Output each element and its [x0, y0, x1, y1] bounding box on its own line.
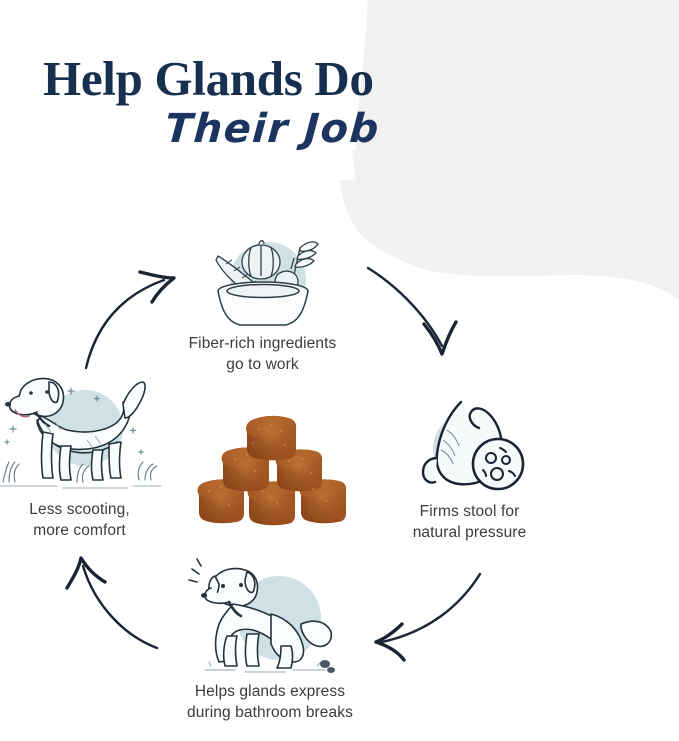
- cycle-step-caption: Fiber-rich ingredients go to work: [160, 334, 365, 375]
- cycle-step-firms-stool: Firms stool for natural pressure: [372, 398, 567, 543]
- curved-arrow-down-right-icon: [366, 262, 478, 366]
- cycle-step-caption: Firms stool for natural pressure: [372, 502, 567, 543]
- infographic-canvas: Help Glands Do Their Job: [0, 0, 679, 741]
- cycle-step-glands-express: Helps glands express during bathroom bre…: [145, 552, 395, 723]
- cycle-step-caption: Less scooting, more comfort: [0, 500, 167, 541]
- cycle-step-less-scooting: Less scooting, more comfort: [0, 366, 167, 541]
- title-line-1: Help Glands Do: [0, 52, 679, 106]
- title-line-2: Their Job: [0, 107, 679, 151]
- stomach-magnified-icon: [405, 398, 535, 502]
- product-label: Stacked soft chew treats: [180, 535, 181, 536]
- dog-bowl-ingredients-icon: [188, 222, 338, 334]
- cycle-step-caption: Helps glands express during bathroom bre…: [145, 682, 395, 723]
- cycle-step-fiber-ingredients: Fiber-rich ingredients go to work: [160, 222, 365, 375]
- page-title: Help Glands Do Their Job: [0, 52, 679, 151]
- happy-standing-dog-icon: [0, 366, 162, 500]
- dog-squatting-icon: [175, 552, 365, 682]
- product-soft-chews: Stacked soft chew treats: [180, 415, 370, 535]
- stacked-soft-chews-icon: [185, 415, 365, 535]
